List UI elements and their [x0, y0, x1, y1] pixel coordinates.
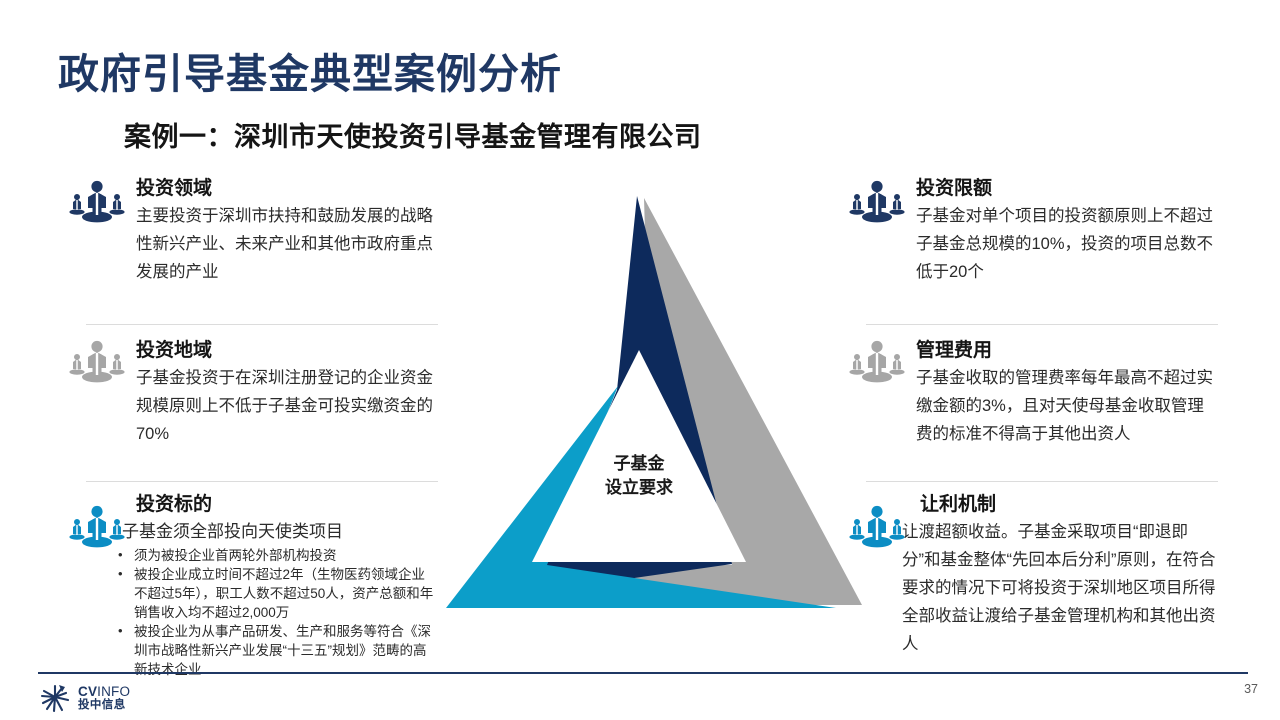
page-subtitle: 案例一：深圳市天使投资引导基金管理有限公司: [124, 115, 702, 154]
info-block-lead: 子基金须全部投向天使类项目: [122, 518, 438, 546]
info-block-investment-region: 投资地域 子基金投资于在深圳注册登记的企业资金规模原则上不低于子基金可投实缴资金…: [68, 324, 438, 481]
info-block-body: 让渡超额收益。子基金采取项目“即退即分”和基金整体“先回本后分利”原则，在符合要…: [902, 518, 1218, 658]
block-divider: [866, 481, 1218, 482]
block-divider: [866, 324, 1218, 325]
info-block-title: 投资地域: [136, 324, 438, 364]
right-column: 投资限额 子基金对单个项目的投资额原则上不超过子基金总规模的10%，投资的项目总…: [848, 176, 1218, 658]
brand-logo: CVINFO 投中信息: [38, 681, 130, 715]
brand-name-en-light: INFO: [97, 684, 130, 699]
three-people-icon: [848, 338, 906, 384]
info-block-body: 主要投资于深圳市扶持和鼓励发展的战略性新兴产业、未来产业和其他市政府重点发展的产…: [136, 202, 438, 286]
info-block-investment-cap: 投资限额 子基金对单个项目的投资额原则上不超过子基金总规模的10%，投资的项目总…: [848, 176, 1218, 324]
burst-logo-icon: [38, 681, 72, 715]
three-people-icon: [68, 503, 126, 549]
left-column: 投资领域 主要投资于深圳市扶持和鼓励发展的战略性新兴产业、未来产业和其他市政府重…: [68, 176, 438, 679]
footer-divider: [38, 672, 1248, 674]
info-block-body: 子基金投资于在深圳注册登记的企业资金规模原则上不低于子基金可投实缴资金的70%: [136, 364, 438, 448]
info-block-investment-field: 投资领域 主要投资于深圳市扶持和鼓励发展的战略性新兴产业、未来产业和其他市政府重…: [68, 176, 438, 324]
block-divider: [86, 481, 438, 482]
info-block-investment-target: 投资标的 子基金须全部投向天使类项目 须为被投企业首两轮外部机构投资 被投企业成…: [68, 481, 438, 679]
list-item: 被投企业为从事产品研发、生产和服务等符合《深圳市战略性新兴产业发展“十三五”规划…: [112, 622, 438, 679]
triangle-diagram: 子基金 设立要求: [432, 190, 862, 610]
info-block-title: 让利机制: [920, 481, 1218, 518]
block-divider: [86, 324, 438, 325]
list-item: 被投企业成立时间不超过2年（生物医药领域企业不超过5年），职工人数不超过50人，…: [112, 565, 438, 622]
info-block-management-fee: 管理费用 子基金收取的管理费率每年最高不超过实缴金额的3%，且对天使母基金收取管…: [848, 324, 1218, 481]
info-block-title: 投资限额: [916, 176, 1218, 202]
brand-name-en-bold: CV: [78, 684, 97, 699]
list-item: 须为被投企业首两轮外部机构投资: [112, 546, 438, 565]
info-block-bullets: 须为被投企业首两轮外部机构投资 被投企业成立时间不超过2年（生物医药领域企业不超…: [112, 546, 438, 679]
page-title: 政府引导基金典型案例分析: [58, 40, 562, 100]
info-block-profit-concession: 让利机制 让渡超额收益。子基金采取项目“即退即分”和基金整体“先回本后分利”原则…: [848, 481, 1218, 658]
info-block-title: 投资领域: [136, 176, 438, 202]
info-block-title: 投资标的: [136, 481, 438, 518]
brand-name-en: CVINFO: [78, 685, 130, 699]
triangle-center-label-line2: 设立要求: [605, 477, 673, 497]
three-people-icon: [68, 178, 126, 224]
info-block-title: 管理费用: [916, 324, 1218, 364]
brand-name-cn: 投中信息: [78, 699, 130, 711]
three-people-icon: [68, 338, 126, 384]
info-block-body: 子基金对单个项目的投资额原则上不超过子基金总规模的10%，投资的项目总数不低于2…: [916, 202, 1218, 286]
page-number: 37: [1244, 682, 1258, 696]
triangle-diagram-svg: 子基金 设立要求: [432, 190, 862, 610]
brand-wordmark: CVINFO 投中信息: [78, 685, 130, 711]
slide-canvas: 政府引导基金典型案例分析 案例一：深圳市天使投资引导基金管理有限公司 子基金 设…: [0, 0, 1280, 720]
triangle-center-label-line1: 子基金: [614, 453, 666, 473]
three-people-icon: [848, 503, 906, 549]
info-block-body: 子基金收取的管理费率每年最高不超过实缴金额的3%，且对天使母基金收取管理费的标准…: [916, 364, 1218, 448]
three-people-icon: [848, 178, 906, 224]
